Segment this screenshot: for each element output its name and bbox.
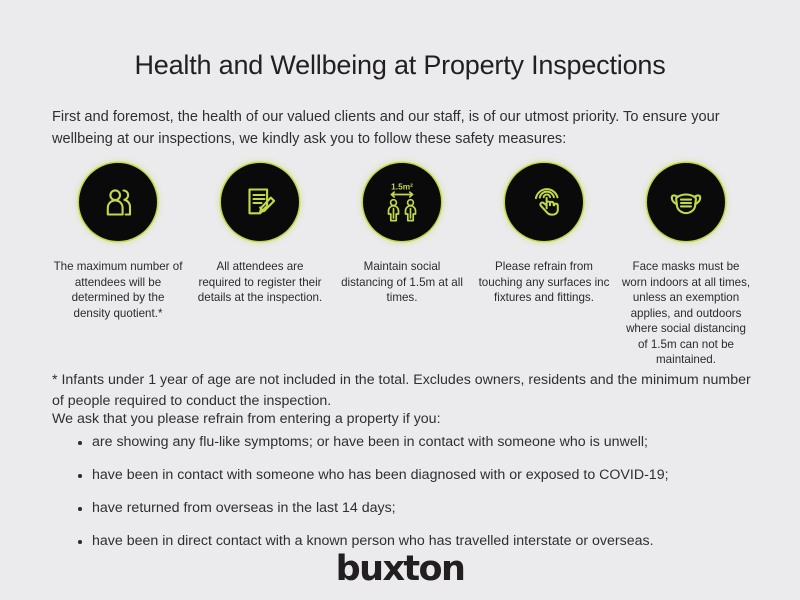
document-pencil-icon	[238, 180, 282, 224]
measure-icon-badge	[647, 163, 725, 241]
measure-icon-badge	[79, 163, 157, 241]
refrain-conditions-list: are showing any flu-like symptoms; or ha…	[72, 432, 792, 564]
two-people-icon	[96, 180, 140, 224]
measure-icon-badge	[221, 163, 299, 241]
touch-hand-icon	[522, 180, 566, 224]
measure-item-face-mask: Face masks must be worn indoors at all t…	[620, 163, 752, 368]
social-distancing-icon: 1.5m²	[377, 177, 427, 227]
face-mask-icon	[663, 179, 709, 225]
measure-item-no-touch: Please refrain from touching any surface…	[478, 163, 610, 306]
measure-icon-badge: 1.5m²	[363, 163, 441, 241]
measure-caption: Face masks must be worn indoors at all t…	[620, 259, 752, 368]
measure-item-attendees: The maximum number of attendees will be …	[52, 163, 184, 321]
safety-measures-row: The maximum number of attendees will be …	[52, 163, 752, 368]
measure-caption: All attendees are required to register t…	[194, 259, 326, 306]
list-item: have returned from overseas in the last …	[92, 498, 792, 519]
measure-caption: Maintain social distancing of 1.5m at al…	[336, 259, 468, 306]
buxton-logo: buxton	[0, 549, 800, 589]
measure-item-distancing: 1.5m² Maintain social distancing of 1.5m…	[336, 163, 468, 306]
intro-paragraph: First and foremost, the health of our va…	[52, 106, 752, 150]
list-item: have been in contact with someone who ha…	[92, 465, 792, 486]
measure-caption: Please refrain from touching any surface…	[478, 259, 610, 306]
footnote-text: * Infants under 1 year of age are not in…	[52, 370, 757, 412]
list-item: are showing any flu-like symptoms; or ha…	[92, 432, 792, 453]
measure-item-register: All attendees are required to register t…	[194, 163, 326, 306]
health-wellbeing-poster: Health and Wellbeing at Property Inspect…	[0, 0, 800, 600]
page-title: Health and Wellbeing at Property Inspect…	[0, 48, 800, 82]
measure-icon-badge	[505, 163, 583, 241]
measure-caption: The maximum number of attendees will be …	[52, 259, 184, 321]
svg-text:1.5m²: 1.5m²	[391, 182, 413, 192]
ask-line-text: We ask that you please refrain from ente…	[52, 409, 757, 430]
